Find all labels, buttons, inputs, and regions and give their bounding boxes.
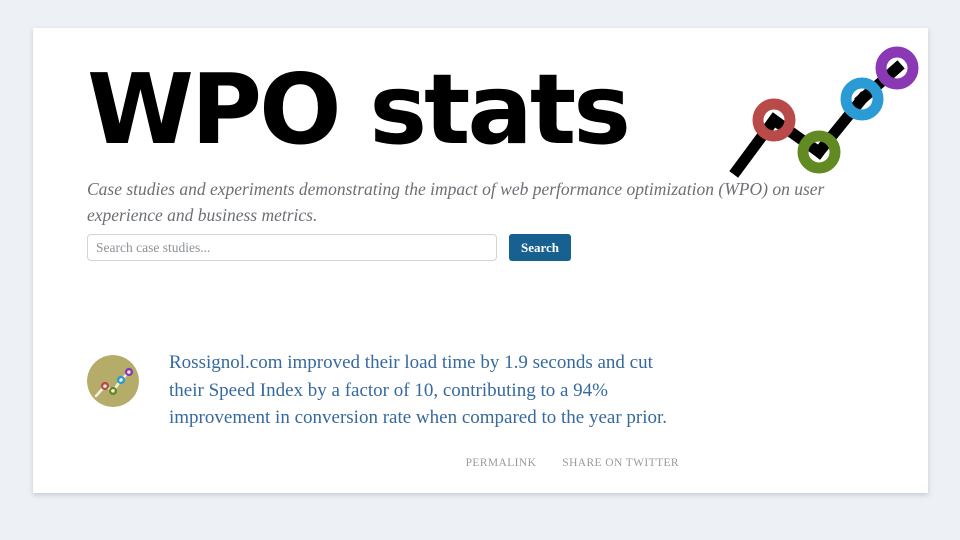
search-button[interactable]: Search	[509, 234, 571, 261]
site-tagline: Case studies and experiments demonstrati…	[87, 176, 877, 228]
share-on-twitter-link[interactable]: SHARE ON TWITTER	[562, 457, 679, 469]
page-card: WPO stats Case studies and experiments	[33, 28, 928, 493]
case-study-meta: PERMALINK SHARE ON TWITTER	[87, 453, 679, 471]
masthead: WPO stats	[87, 44, 887, 176]
content-column: WPO stats Case studies and experiments	[87, 28, 887, 493]
case-study-link[interactable]: Rossignol.com improved their load time b…	[169, 349, 687, 432]
case-study-thumbnail[interactable]	[87, 355, 139, 407]
logo-segment-3	[819, 99, 862, 152]
site-wordmark: WPO stats	[87, 44, 628, 176]
line-chart-logo	[729, 48, 909, 176]
search-form: Search	[87, 234, 571, 261]
thumbnail-background	[87, 355, 139, 407]
permalink-link[interactable]: PERMALINK	[466, 457, 537, 469]
search-input[interactable]	[87, 234, 497, 261]
case-study-entry: Rossignol.com improved their load time b…	[87, 349, 687, 471]
case-study-body: Rossignol.com improved their load time b…	[87, 349, 687, 432]
